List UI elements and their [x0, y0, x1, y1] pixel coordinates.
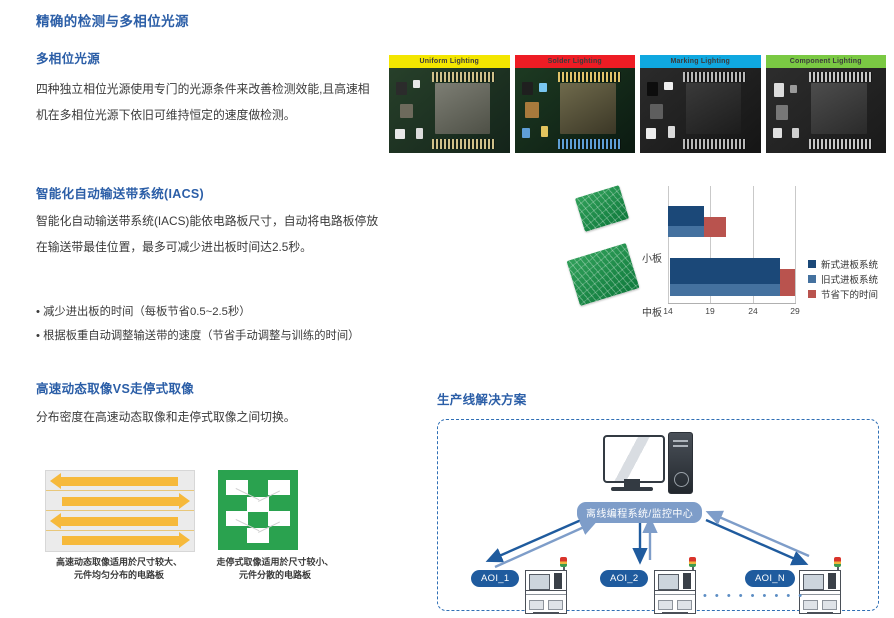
legend-item: 新式进板系统 [808, 256, 878, 271]
monitor-icon [603, 435, 665, 483]
chart-x-axis [668, 303, 796, 304]
lighting-photo-component: Component Lighting [766, 55, 887, 153]
legend-swatch-icon [808, 260, 816, 268]
photo-caption: Component Lighting [766, 55, 887, 68]
diagram-ellipsis: • • • • • • • • • [703, 590, 805, 602]
legend-label: 旧式进板系统 [821, 272, 878, 286]
chart-plot-area: 14 19 24 29 [668, 186, 796, 304]
lighting-photo-solder: Solder Lighting [515, 55, 636, 153]
station-label-aoi-2[interactable]: AOI_2 [600, 570, 648, 587]
bar-saved-small [704, 217, 726, 237]
photo-caption: Marking Lighting [640, 55, 761, 68]
lighting-photo-marking: Marking Lighting [640, 55, 761, 153]
iacs-bar-chart: 小板 中板 14 19 24 29 新式进板系统 [572, 186, 890, 318]
pcb-medium-icon [566, 243, 639, 306]
chart-legend: 新式进板系统 旧式进板系统 节省下的时间 [808, 256, 878, 301]
photo-caption: Uniform Lighting [389, 55, 510, 68]
chart-xtick: 19 [705, 306, 714, 316]
monitor-stand-icon [624, 479, 640, 487]
page-root: 精确的检测与多相位光源 多相位光源 四种独立相位光源使用专门的光源条件来改善检测… [0, 0, 894, 618]
iacs-bullet-list: • 减少进出板的时间（每板节省0.5~2.5秒） • 根据板重自动调整输送带的速… [36, 300, 396, 348]
chart-category-label-medium: 中板 [642, 304, 662, 319]
chart-category-label-small: 小板 [642, 250, 662, 265]
chart-xtick: 24 [748, 306, 757, 316]
chart-xtick: 14 [663, 306, 672, 316]
step-imaging-illustration [218, 470, 298, 550]
production-line-diagram: 离线编程系统/监控中心 AOI_1 AOI_2 AOI_N • • • • • … [437, 419, 879, 611]
pc-tower-icon [668, 432, 693, 494]
station-label-aoi-1[interactable]: AOI_1 [471, 570, 519, 587]
bar-new-medium [670, 258, 780, 284]
step-imaging-caption: 走停式取像适用於尺寸较小、 元件分散的电路板 [205, 556, 345, 582]
caption-line: 元件均匀分布的电路板 [30, 569, 208, 582]
section-title-production-line: 生产线解决方案 [437, 389, 527, 408]
legend-swatch-icon [808, 290, 816, 298]
bar-saved-medium [780, 269, 795, 296]
section-title-imaging: 高速动态取像VS走停式取像 [36, 378, 194, 397]
dynamic-imaging-illustration [45, 470, 195, 552]
bar-old-medium [670, 284, 780, 296]
chart-xtick: 29 [790, 306, 799, 316]
station-label-aoi-n[interactable]: AOI_N [745, 570, 795, 587]
caption-line: 元件分散的电路板 [205, 569, 345, 582]
list-item: • 根据板重自动调整输送带的速度（节省手动调整与训练的时间） [36, 324, 396, 348]
section-body-imaging: 分布密度在高速动态取像和走停式取像之间切换。 [36, 404, 396, 430]
bar-old-small [668, 226, 704, 237]
legend-label: 新式进板系统 [821, 257, 878, 271]
caption-line: 高速动态取像适用於尺寸较大、 [30, 556, 208, 569]
pcb-small-icon [575, 185, 629, 232]
photo-caption: Solder Lighting [515, 55, 636, 68]
section-body-iacs: 智能化自动输送带系统(IACS)能依电路板尺寸，自动将电路板停放在输送带最佳位置… [36, 208, 384, 260]
legend-label: 节省下的时间 [821, 287, 878, 301]
legend-swatch-icon [808, 275, 816, 283]
aoi-machine-icon-1 [523, 560, 569, 614]
legend-item: 旧式进板系统 [808, 271, 878, 286]
section-title-iacs: 智能化自动输送带系统(IACS) [36, 183, 204, 202]
section-title-lighting: 多相位光源 [36, 48, 100, 67]
dynamic-imaging-caption: 高速动态取像适用於尺寸较大、 元件均匀分布的电路板 [30, 556, 208, 582]
section-body-lighting: 四种独立相位光源使用专门的光源条件来改善检测效能,且高速相机在多相位光源下依旧可… [36, 76, 376, 128]
aoi-machine-icon-n [797, 560, 843, 614]
list-item: • 减少进出板的时间（每板节省0.5~2.5秒） [36, 300, 396, 324]
monitor-base-icon [611, 487, 653, 491]
lighting-photo-uniform: Uniform Lighting [389, 55, 510, 153]
legend-item: 节省下的时间 [808, 286, 878, 301]
page-title: 精确的检测与多相位光源 [36, 10, 189, 30]
bar-new-small [668, 206, 704, 226]
hub-label: 离线编程系统/监控中心 [577, 502, 702, 523]
lighting-photo-strip: Uniform Lighting Solder Lighting [389, 55, 886, 153]
caption-line: 走停式取像适用於尺寸较小、 [205, 556, 345, 569]
aoi-machine-icon-2 [652, 560, 698, 614]
